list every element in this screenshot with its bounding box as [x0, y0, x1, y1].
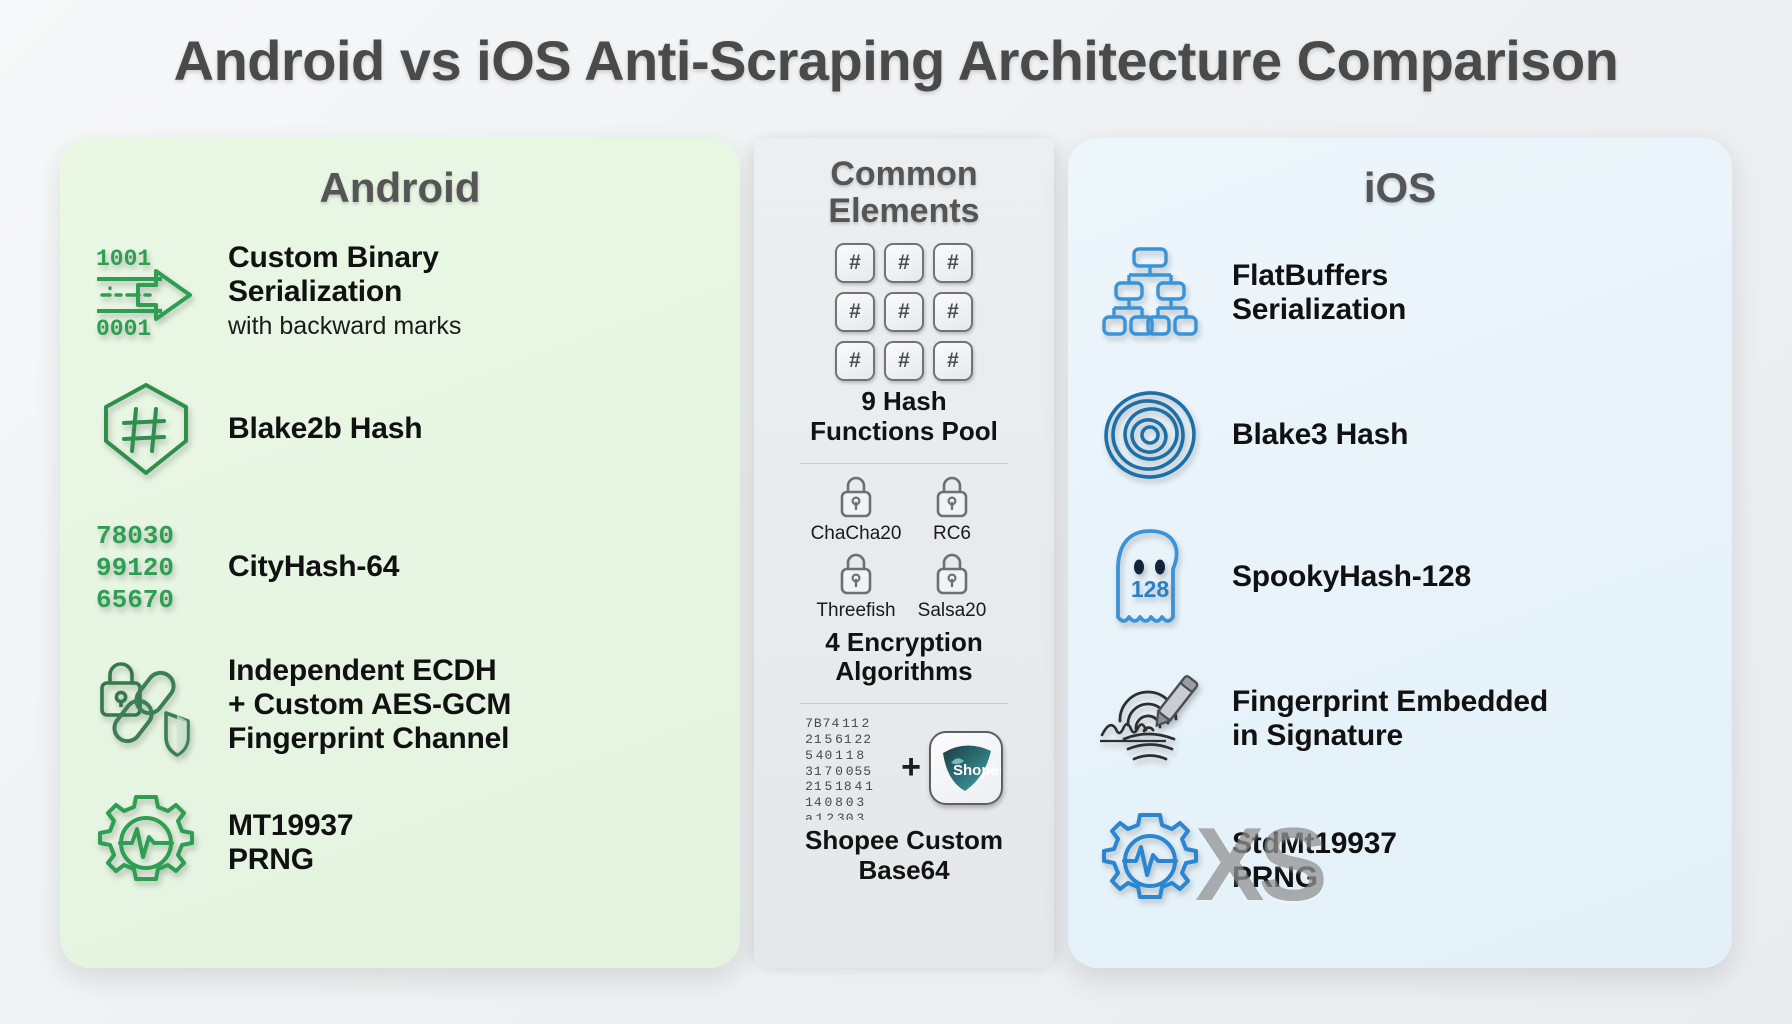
- ios-row-flatbuffers-serialization: FlatBuffersSerialization: [1094, 222, 1706, 364]
- hash-tile: #: [933, 341, 973, 381]
- shopee-logo-icon: Shopee: [929, 731, 1003, 805]
- android-row-text: Blake2b Hash: [228, 412, 710, 446]
- ghost-icon: 128: [1094, 525, 1206, 629]
- digit-row-1: 78030: [96, 521, 174, 551]
- plus-icon: +: [901, 748, 921, 787]
- android-row-mt19937-prng: MT19937PRNG: [90, 774, 710, 912]
- encryption-caption: 4 EncryptionAlgorithms: [825, 628, 982, 687]
- row-title: Blake3 Hash: [1232, 418, 1706, 452]
- ios-row-text: Fingerprint Embeddedin Signature: [1232, 685, 1706, 753]
- concentric-rings-icon: [1094, 383, 1206, 487]
- comparison-columns: Android 1001 0001: [60, 138, 1732, 978]
- common-block-encryption: ChaCha20 RC6: [766, 472, 1042, 687]
- row-title: MT19937PRNG: [228, 809, 710, 877]
- padlock-icon: [833, 472, 879, 522]
- hash-tile: #: [933, 292, 973, 332]
- padlock-icon: [929, 549, 975, 599]
- divider: [800, 703, 1008, 704]
- hash-hexagon-icon: [90, 377, 202, 481]
- hash-tile: #: [933, 243, 973, 283]
- ios-row-text: SpookyHash-128: [1232, 560, 1706, 594]
- hash-pool-caption: 9 HashFunctions Pool: [810, 387, 998, 446]
- row-title: StdMt19937PRNG: [1232, 827, 1706, 895]
- ios-row-blake3-hash: Blake3 Hash: [1094, 364, 1706, 506]
- ios-row-text: StdMt19937PRNG: [1232, 827, 1706, 895]
- ios-row-text: FlatBuffersSerialization: [1232, 259, 1706, 327]
- fingerprint-pen-icon: [1094, 667, 1206, 771]
- android-row-independent-ecdh: Independent ECDH+ Custom AES-GCMFingerpr…: [90, 636, 710, 774]
- lock-label: RC6: [933, 523, 971, 545]
- hash-tile-grid-icon: # # # # # # # # #: [835, 243, 973, 381]
- hash-tile: #: [835, 292, 875, 332]
- common-block-hash-pool: # # # # # # # # # 9 HashFunctions Pool: [766, 243, 1042, 446]
- android-row-cityhash-64: 78030 99120 65670 CityHash-64: [90, 498, 710, 636]
- padlock-grid-icon: ChaCha20 RC6: [808, 472, 1000, 622]
- hash-tile: #: [835, 341, 875, 381]
- android-row-text: CityHash-64: [228, 550, 710, 584]
- ios-panel: iOS: [1068, 138, 1732, 968]
- lock-cell-threefish: Threefish: [808, 549, 904, 622]
- android-heading: Android: [90, 164, 710, 212]
- lock-chain-shield-icon: [90, 653, 202, 757]
- android-row-custom-binary-serialization: 1001 0001 Custom BinarySerialization: [90, 222, 710, 360]
- digit-matrix-icon: 78030 99120 65670: [90, 515, 202, 619]
- digit-matrix-icon: 7B74 11 221 5 61 22 5 40 1 1 831 7 0 055…: [805, 716, 893, 820]
- ios-row-stdmt19937-prng: StdMt19937PRNG: [1094, 790, 1706, 932]
- ios-row-spookyhash-128: 128 SpookyHash-128: [1094, 506, 1706, 648]
- digit-row-3: 65670: [96, 585, 174, 615]
- common-block-shopee-base64: 7B74 11 221 5 61 22 5 40 1 1 831 7 0 055…: [766, 712, 1042, 885]
- row-title: FlatBuffersSerialization: [1232, 259, 1706, 327]
- gear-waveform-icon: [1094, 809, 1206, 913]
- lock-label: ChaCha20: [811, 523, 902, 545]
- ios-row-text: Blake3 Hash: [1232, 418, 1706, 452]
- lock-cell-rc6: RC6: [904, 472, 1000, 545]
- lock-cell-chacha20: ChaCha20: [808, 472, 904, 545]
- divider: [800, 463, 1008, 464]
- row-title: Independent ECDH+ Custom AES-GCMFingerpr…: [228, 654, 710, 756]
- hash-tile: #: [835, 243, 875, 283]
- android-feature-list: 1001 0001 Custom BinarySerialization: [90, 222, 710, 912]
- binary-arrow-icon: 1001 0001: [90, 239, 202, 343]
- row-title: Fingerprint Embeddedin Signature: [1232, 685, 1706, 753]
- row-title: SpookyHash-128: [1232, 560, 1706, 594]
- gear-waveform-icon: [90, 791, 202, 895]
- page-title: Android vs iOS Anti-Scraping Architectur…: [0, 28, 1792, 93]
- row-title: Blake2b Hash: [228, 412, 710, 446]
- android-row-text: Independent ECDH+ Custom AES-GCMFingerpr…: [228, 654, 710, 756]
- row-title: CityHash-64: [228, 550, 710, 584]
- lock-label: Threefish: [816, 600, 895, 622]
- hash-tile: #: [884, 292, 924, 332]
- padlock-icon: [929, 472, 975, 522]
- shopee-wordmark: Shopee: [953, 762, 1001, 779]
- ios-row-fingerprint-signature: Fingerprint Embeddedin Signature: [1094, 648, 1706, 790]
- lock-cell-salsa20: Salsa20: [904, 549, 1000, 622]
- digit-matrix-plus-shopee-icon: 7B74 11 221 5 61 22 5 40 1 1 831 7 0 055…: [805, 716, 1003, 820]
- ios-feature-list: FlatBuffersSerialization: [1094, 222, 1706, 932]
- padlock-icon: [833, 549, 879, 599]
- android-row-text: Custom BinarySerialization with backward…: [228, 241, 710, 341]
- common-heading: CommonElements: [828, 156, 979, 229]
- android-row-blake2b-hash: Blake2b Hash: [90, 360, 710, 498]
- tree-structure-icon: [1094, 241, 1206, 345]
- digit-row-2: 99120: [96, 553, 174, 583]
- row-subtitle: with backward marks: [228, 311, 710, 341]
- ghost-badge-text: 128: [1131, 576, 1170, 602]
- android-panel: Android 1001 0001: [60, 138, 740, 968]
- android-row-text: MT19937PRNG: [228, 809, 710, 877]
- hash-tile: #: [884, 243, 924, 283]
- svg-text:0001: 0001: [96, 316, 151, 341]
- row-title: Custom BinarySerialization: [228, 241, 710, 309]
- common-elements-panel: CommonElements # # # # # # # # # 9 HashF…: [754, 138, 1054, 968]
- ios-heading: iOS: [1094, 164, 1706, 212]
- hash-tile: #: [884, 341, 924, 381]
- svg-text:1001: 1001: [96, 246, 151, 272]
- lock-label: Salsa20: [918, 600, 987, 622]
- shopee-caption: Shopee CustomBase64: [805, 826, 1003, 885]
